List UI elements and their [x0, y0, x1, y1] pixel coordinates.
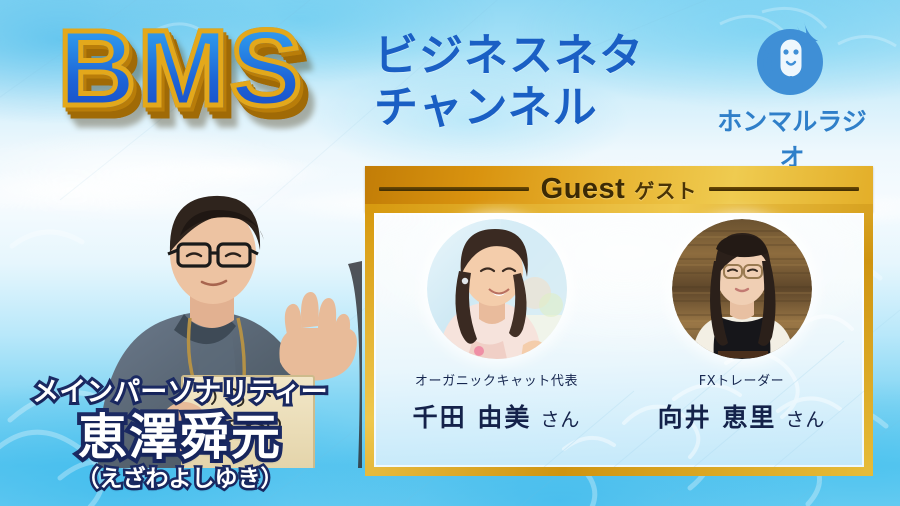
channel-title-line2: チャンネル — [374, 82, 644, 134]
guest-name-text: 千田 由美 — [413, 403, 532, 432]
guest-item: オーガニックキャット代表 千田 由美さん — [374, 219, 619, 473]
guest-name: 向井 恵里さん — [619, 398, 864, 434]
host-name-kana: （えざわよしゆき） — [0, 466, 360, 492]
title-block: BMS BMS ビジネスネタ チャンネル — [44, 14, 704, 154]
guest-title: FXトレーダー — [619, 370, 864, 389]
host-role-label: メインパーソナリティー — [0, 378, 360, 408]
channel-title: ビジネスネタ チャンネル — [374, 30, 644, 134]
guest-name: 千田 由美さん — [374, 398, 619, 434]
brand-acronym: BMS — [58, 14, 304, 122]
guest-header-label-jp: ゲスト — [634, 175, 697, 204]
header-rule-left — [379, 187, 529, 191]
radio-logo: ホンマルラジオ — [706, 16, 878, 144]
guest-header-text: Guest ゲスト — [541, 173, 698, 206]
guest-avatar — [427, 219, 567, 359]
host-caption: メインパーソナリティー 恵澤舜元 （えざわよしゆき） — [0, 378, 360, 493]
radio-logo-text: ホンマルラジオ — [706, 102, 878, 174]
guest-avatar — [672, 219, 812, 359]
slide-canvas: BMS BMS ビジネスネタ チャンネル ホンマルラジオ — [0, 0, 900, 506]
guest-item: FXトレーダー 向井 恵里さん — [619, 219, 864, 473]
guest-panel: Guest ゲスト — [365, 166, 873, 476]
guest-photo-1 — [427, 219, 567, 359]
guest-list: オーガニックキャット代表 千田 由美さん — [374, 213, 864, 467]
guest-name-suffix: さん — [540, 409, 580, 431]
microphone-flame-character-icon — [748, 16, 836, 100]
guest-panel-body: オーガニックキャット代表 千田 由美さん — [365, 204, 873, 476]
guest-title: オーガニックキャット代表 — [374, 370, 619, 389]
guest-header-label-en: Guest — [541, 173, 626, 206]
channel-title-line1: ビジネスネタ — [374, 30, 644, 81]
host-name: 恵澤舜元 — [0, 411, 360, 465]
guest-name-suffix: さん — [785, 409, 825, 431]
guest-photo-2 — [672, 219, 812, 359]
guest-name-text: 向井 恵里 — [658, 403, 777, 432]
header-rule-right — [709, 187, 859, 191]
